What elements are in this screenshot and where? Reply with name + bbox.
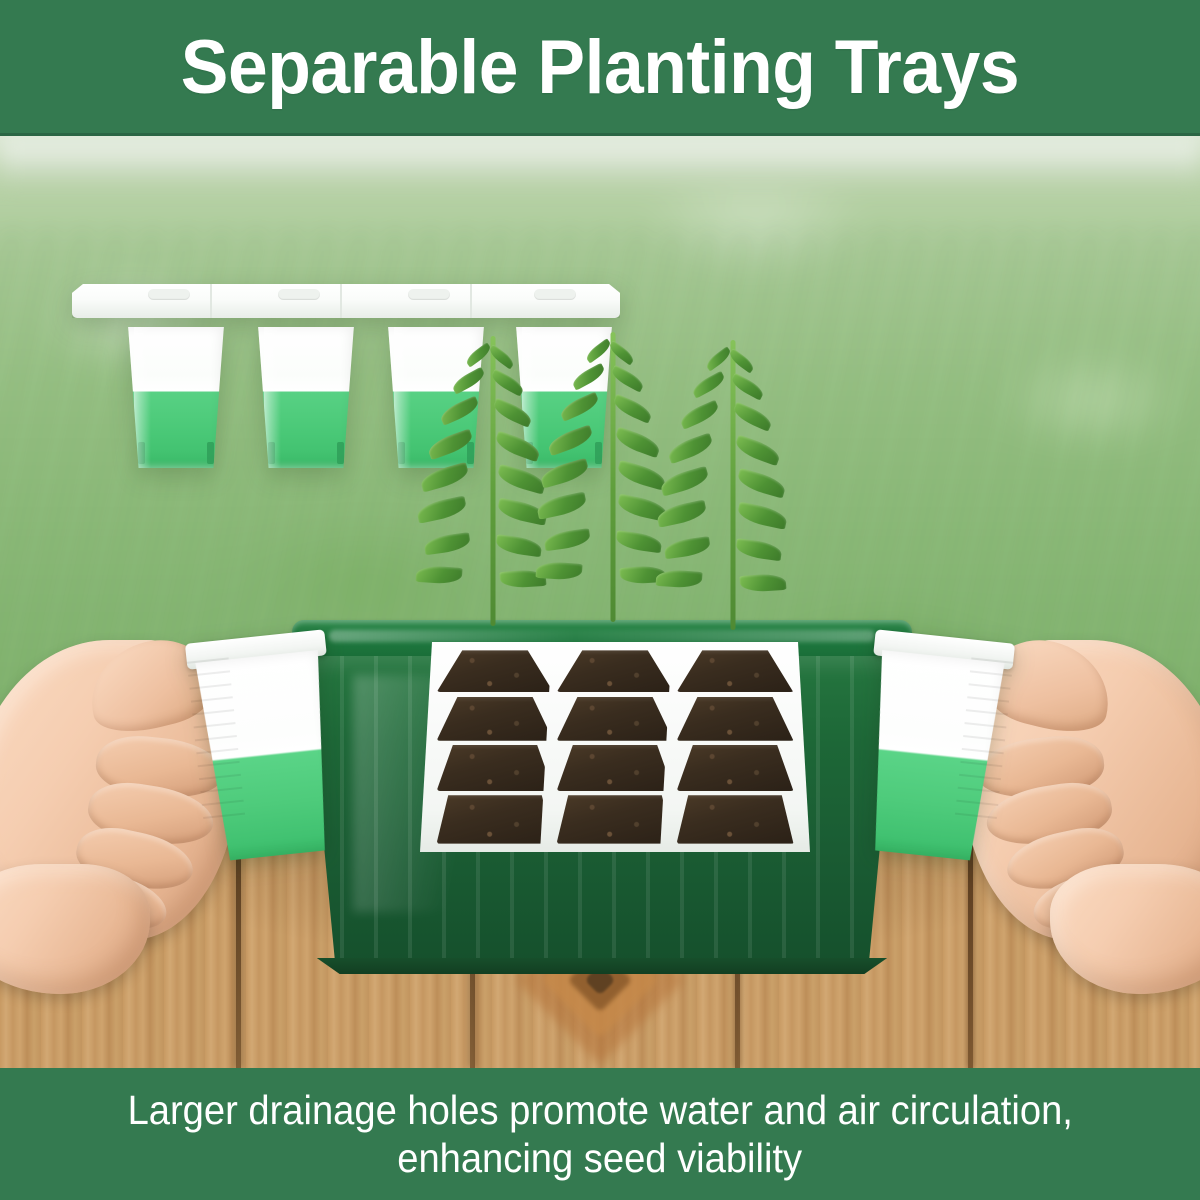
soil-cell (557, 697, 674, 741)
header-banner: Separable Planting Trays (0, 0, 1200, 136)
product-marketing-image: Separable Planting Trays (0, 0, 1200, 1200)
soil-cell (437, 650, 554, 692)
product-photo (0, 136, 1200, 1068)
page-title: Separable Planting Trays (181, 30, 1019, 106)
caption-line-1: Larger drainage holes promote water and … (127, 1086, 1072, 1134)
soil-cell (677, 745, 794, 791)
seedling-plant (658, 340, 808, 630)
footer-banner: Larger drainage holes promote water and … (0, 1068, 1200, 1200)
seedling-cell-strip[interactable] (660, 642, 810, 852)
soil-cell (557, 795, 674, 843)
soil-cell (677, 650, 794, 692)
background-horizon (0, 136, 1200, 182)
detached-pod-right[interactable] (853, 629, 1015, 862)
soil-cell (677, 795, 794, 843)
soil-cell (437, 697, 554, 741)
soil-cell (437, 745, 554, 791)
pot-cell (254, 312, 358, 468)
main-seed-tray[interactable] (292, 620, 912, 968)
cell-strip-group (292, 620, 912, 968)
soil-cell (437, 795, 554, 843)
caption-line-2: enhancing seed viability (398, 1134, 803, 1182)
soil-cell (557, 745, 674, 791)
pot-cell (124, 312, 228, 468)
soil-cell (557, 650, 674, 692)
detached-pod-left[interactable] (185, 629, 347, 862)
soil-cell (677, 697, 794, 741)
